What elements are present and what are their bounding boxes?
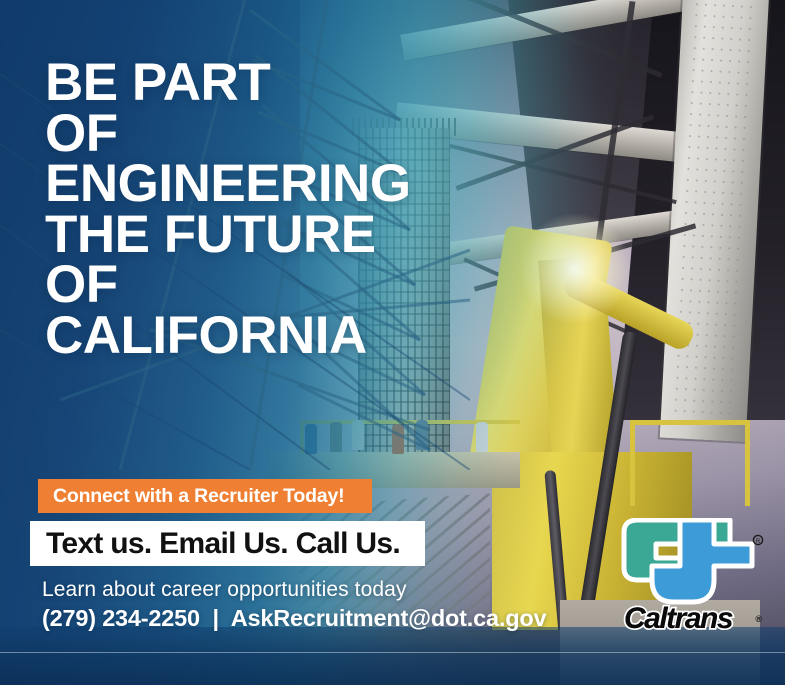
caltrans-logo: R Caltrans Caltrans ® <box>588 518 768 648</box>
contact-methods-bar: Text us. Email Us. Call Us. <box>30 521 425 566</box>
recruiter-cta-tag-label: Connect with a Recruiter Today! <box>38 485 344 508</box>
recruitment-ad-banner: BE PART OF ENGINEERING THE FUTURE OF CAL… <box>0 0 785 685</box>
contact-line: (279) 234-2250 | AskRecruitment@dot.ca.g… <box>42 605 546 632</box>
caltrans-ct-monogram-icon: R <box>588 518 768 610</box>
recruiter-cta-tag: Connect with a Recruiter Today! <box>38 479 372 513</box>
svg-text:R: R <box>756 539 761 545</box>
page-title: BE PART OF ENGINEERING THE FUTURE OF CAL… <box>45 58 411 362</box>
caltrans-wordmark: Caltrans <box>588 602 768 636</box>
bottom-hairline <box>0 652 785 653</box>
registered-trademark-icon: ® <box>755 614 762 624</box>
learn-more-text: Learn about career opportunities today <box>42 578 407 602</box>
contact-methods-label: Text us. Email Us. Call Us. <box>30 527 400 561</box>
